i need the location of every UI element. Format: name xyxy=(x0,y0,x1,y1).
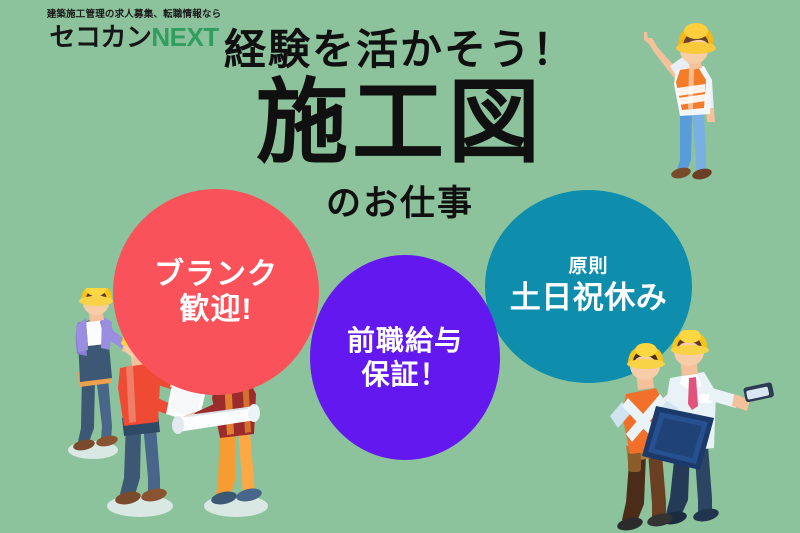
headline-main-title: 施工図 xyxy=(170,74,630,173)
workers-right-illustration xyxy=(604,330,800,533)
logo-tagline: 建築施工管理の求人募集、転職情報なら xyxy=(44,10,224,20)
feature-bubble-salary-guarantee[interactable]: 前職給与 保証！ xyxy=(310,255,500,460)
headline-top-line: 経験を活かそう！ xyxy=(170,28,630,72)
bubble-teal-line1: 土日祝休み xyxy=(510,280,668,317)
bubble-red-line1: ブランク xyxy=(154,257,278,292)
worker-pointing-illustration xyxy=(636,8,746,193)
bubble-purple-line2: 保証！ xyxy=(361,358,448,391)
bubble-purple-line1: 前職給与 xyxy=(347,324,463,357)
logo-word-primary: セコカン xyxy=(49,22,151,52)
feature-bubble-blank-welcome[interactable]: ブランク 歓迎! xyxy=(113,189,319,395)
bubble-red-line2: 歓迎! xyxy=(180,292,253,327)
bubble-teal-small: 原則 xyxy=(568,256,608,278)
job-ad-banner: 建築施工管理の求人募集、転職情報なら セコカンNEXT 経験を活かそう！ 施工図… xyxy=(0,0,800,533)
two-workers-icon xyxy=(604,330,800,533)
worker-pointing-icon xyxy=(636,8,746,188)
